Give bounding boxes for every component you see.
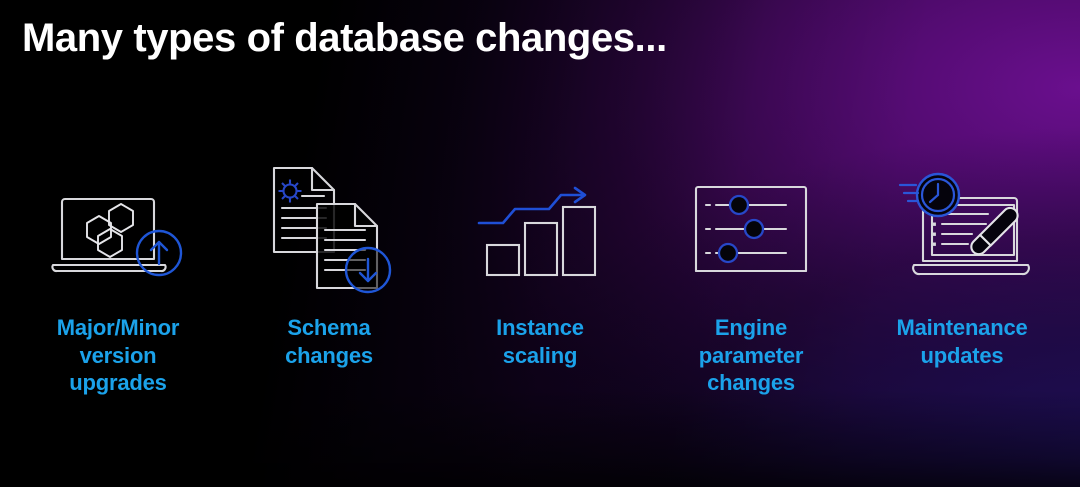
card-caption-major-minor-version-upgrades: Major/Minor version upgrades <box>57 314 179 397</box>
caption-line: Engine <box>699 314 804 342</box>
documents-gear-download-icon <box>254 150 404 310</box>
slide-canvas: Many types of database changes... <box>0 0 1080 487</box>
caption-line: upgrades <box>57 369 179 397</box>
caption-line: Major/Minor <box>57 314 179 342</box>
caption-line: Instance <box>496 314 584 342</box>
caption-line: changes <box>699 369 804 397</box>
card-schema-changes[interactable]: Schema changes <box>229 150 429 369</box>
caption-line: changes <box>285 342 373 370</box>
card-caption-engine-parameter-changes: Engine parameter changes <box>699 314 804 397</box>
slide-title: Many types of database changes... <box>22 14 667 62</box>
laptop-cube-upgrade-icon <box>43 150 193 310</box>
caption-line: updates <box>896 342 1027 370</box>
caption-line: parameter <box>699 342 804 370</box>
card-caption-instance-scaling: Instance scaling <box>496 314 584 369</box>
icon-card-row: Major/Minor version upgrades <box>0 150 1080 397</box>
caption-line: scaling <box>496 342 584 370</box>
card-engine-parameter-changes[interactable]: Engine parameter changes <box>651 150 851 397</box>
card-caption-schema-changes: Schema changes <box>285 314 373 369</box>
card-caption-maintenance-updates: Maintenance updates <box>896 314 1027 369</box>
caption-line: Schema <box>285 314 373 342</box>
laptop-wrench-clock-icon <box>882 150 1042 310</box>
caption-line: version <box>57 342 179 370</box>
card-maintenance-updates[interactable]: Maintenance updates <box>862 150 1062 369</box>
slider-settings-panel-icon <box>676 150 826 310</box>
caption-line: Maintenance <box>896 314 1027 342</box>
card-instance-scaling[interactable]: Instance scaling <box>440 150 640 369</box>
bar-chart-growth-arrow-icon <box>465 150 615 310</box>
card-major-minor-version-upgrades[interactable]: Major/Minor version upgrades <box>18 150 218 397</box>
